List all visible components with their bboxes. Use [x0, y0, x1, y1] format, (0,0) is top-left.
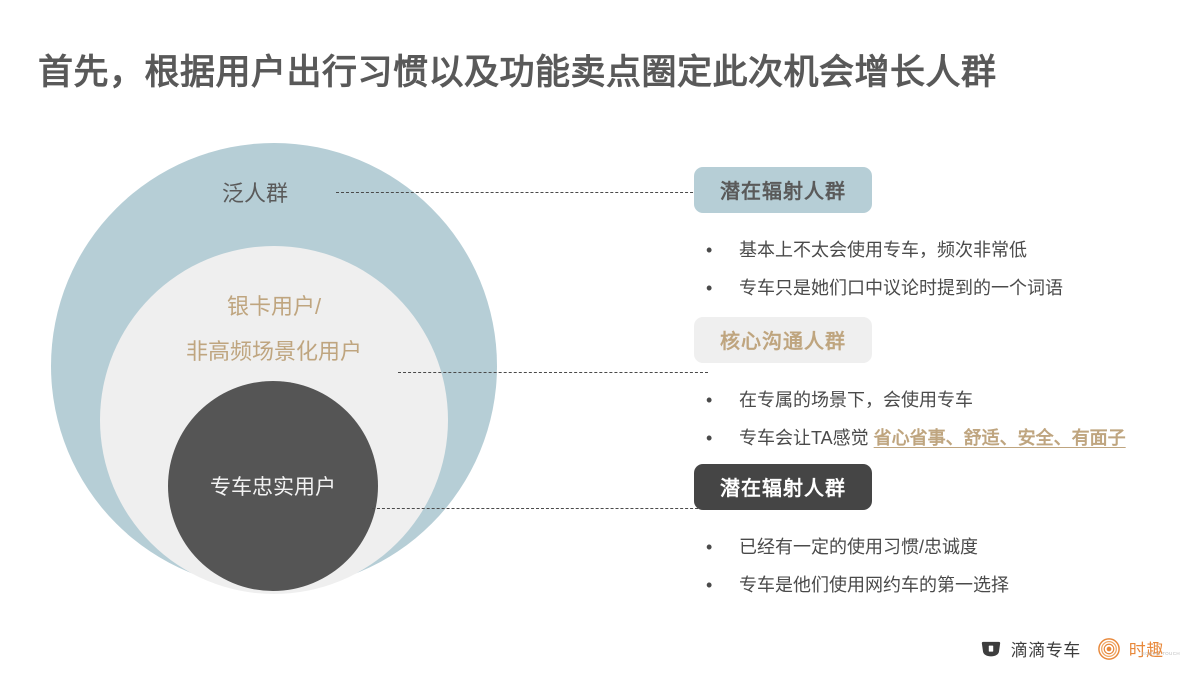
- bullet-text: 已经有一定的使用习惯/忠诚度: [739, 537, 978, 557]
- bullet-text: 专车会让TA感觉: [739, 428, 874, 448]
- connector-line-broad-audience: [336, 192, 708, 193]
- list-item: • 在专属的场景下，会使用专车: [694, 381, 1184, 419]
- connector-line-core-audience: [398, 372, 708, 373]
- segment-badge-core-communication: 核心沟通人群: [694, 317, 872, 363]
- bullet-text: 专车是他们使用网约车的第一选择: [739, 575, 1009, 595]
- audience-segments-panel: 潜在辐射人群 • 基本上不太会使用专车，频次非常低 • 专车只是她们口中议论时提…: [694, 0, 1184, 675]
- list-item: • 已经有一定的使用习惯/忠诚度: [694, 528, 1184, 566]
- bullet-dot-icon: •: [706, 566, 712, 604]
- shiqu-logo-icon: [1090, 638, 1120, 660]
- segment-bullet-list: • 基本上不太会使用专车，频次非常低 • 专车只是她们口中议论时提到的一个词语: [694, 231, 1184, 307]
- bullet-dot-icon: •: [706, 419, 712, 457]
- shiqu-logo-text: 时趣: [1129, 636, 1164, 661]
- bullet-text-highlight: 省心省事、舒适、安全、有面子: [874, 428, 1126, 448]
- circle-middle-label: 银卡用户/ 非高频场景化用户: [100, 284, 448, 374]
- segment-potential-radiated: 潜在辐射人群 • 基本上不太会使用专车，频次非常低 • 专车只是她们口中议论时提…: [694, 167, 1184, 307]
- footer-logo-group: 滴滴专车 时趣 SOCIAL TOUCH: [980, 636, 1180, 661]
- bullet-dot-icon: •: [706, 528, 712, 566]
- didi-logo-text: 滴滴专车: [1011, 636, 1081, 661]
- bullet-text: 专车只是她们口中议论时提到的一个词语: [739, 278, 1063, 298]
- segment-loyal-users: 潜在辐射人群 • 已经有一定的使用习惯/忠诚度 • 专车是他们使用网约车的第一选…: [694, 464, 1184, 604]
- circle-middle-label-line1: 银卡用户/: [100, 284, 448, 329]
- bullet-text: 基本上不太会使用专车，频次非常低: [739, 240, 1027, 260]
- segment-bullet-list: • 在专属的场景下，会使用专车 • 专车会让TA感觉 省心省事、舒适、安全、有面…: [694, 381, 1184, 457]
- didi-logo-icon: [980, 638, 1002, 660]
- list-item: • 专车是他们使用网约车的第一选择: [694, 566, 1184, 604]
- bullet-text: 在专属的场景下，会使用专车: [739, 390, 973, 410]
- bullet-dot-icon: •: [706, 231, 712, 269]
- bullet-dot-icon: •: [706, 269, 712, 307]
- circle-middle-label-line2: 非高频场景化用户: [100, 329, 448, 374]
- list-item: • 专车只是她们口中议论时提到的一个词语: [694, 269, 1184, 307]
- segment-badge-loyal-users: 潜在辐射人群: [694, 464, 872, 510]
- circle-inner-label: 专车忠实用户: [168, 471, 378, 501]
- bullet-dot-icon: •: [706, 381, 712, 419]
- list-item: • 基本上不太会使用专车，频次非常低: [694, 231, 1184, 269]
- list-item: • 专车会让TA感觉 省心省事、舒适、安全、有面子: [694, 419, 1184, 457]
- shiqu-logo-subtext: SOCIAL TOUCH: [1142, 651, 1180, 656]
- connector-line-loyal-audience: [372, 508, 708, 509]
- segment-core-communication: 核心沟通人群 • 在专属的场景下，会使用专车 • 专车会让TA感觉 省心省事、舒…: [694, 317, 1184, 457]
- segment-badge-potential-radiated: 潜在辐射人群: [694, 167, 872, 213]
- audience-circles-diagram: 泛人群 银卡用户/ 非高频场景化用户 专车忠实用户: [0, 0, 560, 675]
- segment-bullet-list: • 已经有一定的使用习惯/忠诚度 • 专车是他们使用网约车的第一选择: [694, 528, 1184, 604]
